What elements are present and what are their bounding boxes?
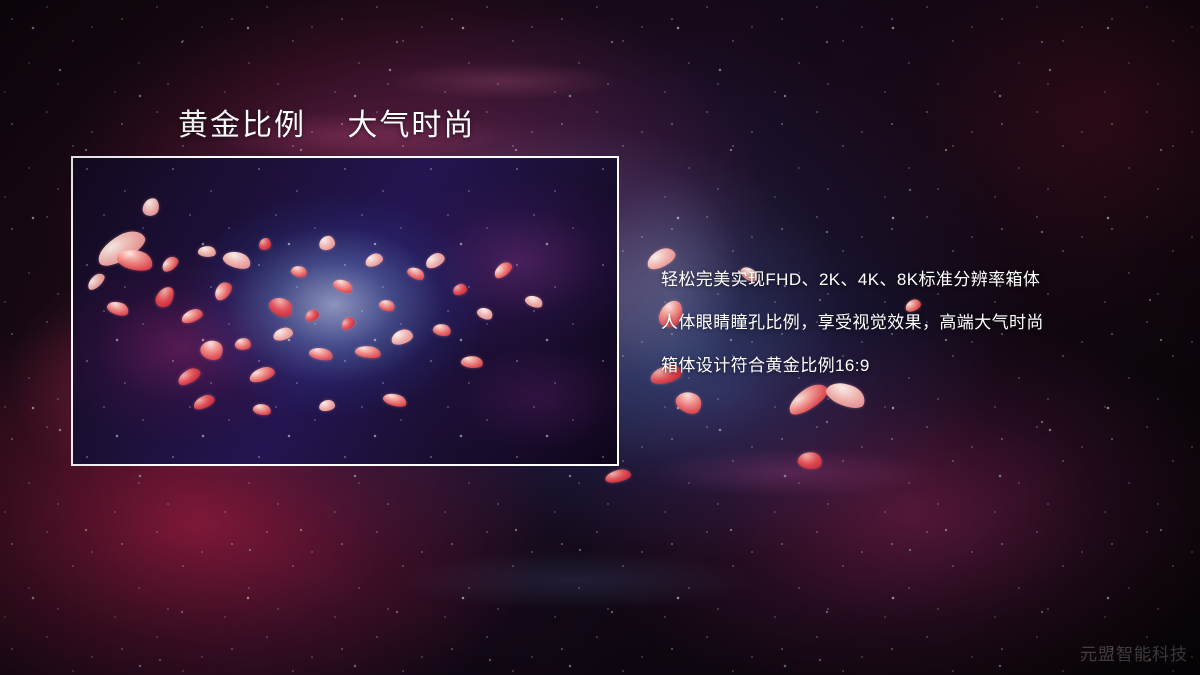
presentation-slide: 黄金比例 大气时尚 轻松完美实现FHD、2K、4K、8K标准分辨率箱体 人体眼睛… <box>0 0 1200 675</box>
page-title: 黄金比例 大气时尚 <box>178 100 475 144</box>
body-copy: 轻松完美实现FHD、2K、4K、8K标准分辨率箱体 人体眼睛瞳孔比例，享受视觉效… <box>661 258 1161 387</box>
framed-galaxy-photo <box>71 156 619 466</box>
watermark: 元盟智能科技 <box>1080 640 1188 665</box>
body-line-3: 箱体设计符合黄金比例16:9 <box>661 344 1161 387</box>
body-line-1: 轻松完美实现FHD、2K、4K、8K标准分辨率箱体 <box>661 258 1161 301</box>
body-line-2: 人体眼睛瞳孔比例，享受视觉效果，高端大气时尚 <box>661 301 1161 344</box>
rose-petal <box>259 238 271 250</box>
